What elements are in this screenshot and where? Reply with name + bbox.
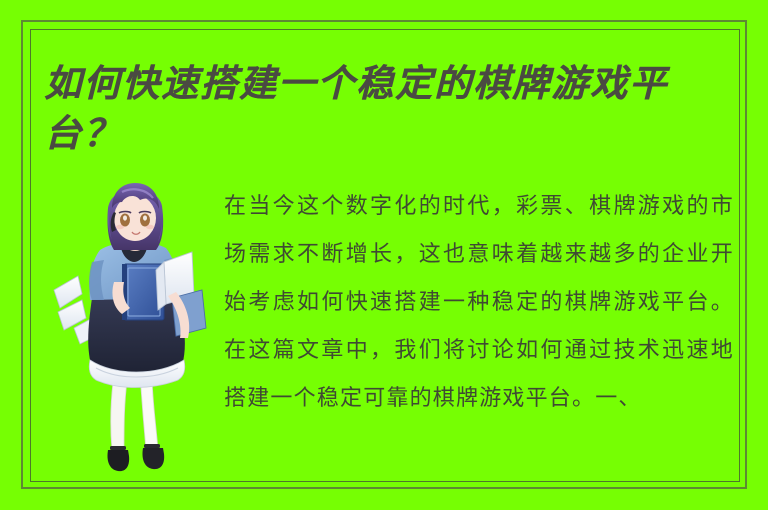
article-title: 如何快速搭建一个稳定的棋牌游戏平台？ — [44, 58, 734, 158]
head — [107, 183, 163, 251]
legs-with-stockings — [107, 374, 164, 471]
article-card: 如何快速搭建一个稳定的棋牌游戏平台？ 在当今这个数字化的时代，彩票、棋牌游戏的市… — [0, 0, 768, 510]
character-illustration — [52, 178, 218, 478]
article-body: 在当今这个数字化的时代，彩票、棋牌游戏的市场需求不断增长，这也意味着越来越多的企… — [224, 183, 734, 423]
